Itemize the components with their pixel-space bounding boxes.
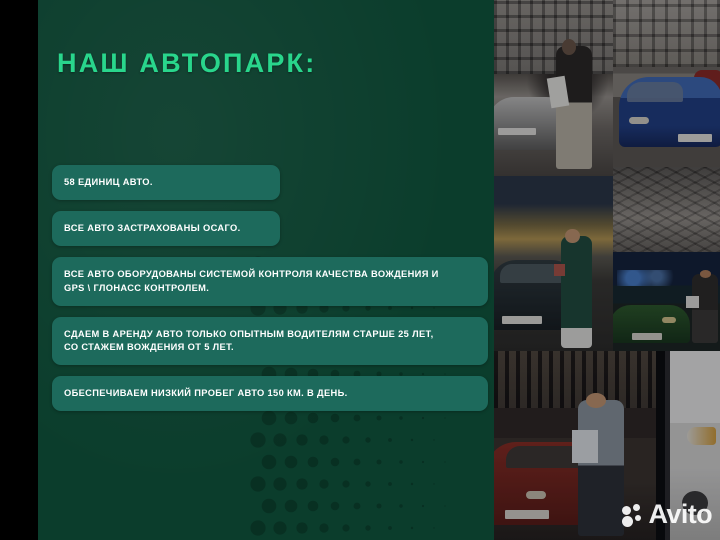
- photo-pavement: [613, 167, 720, 252]
- feature-line: СДАЕМ В АРЕНДУ АВТО ТОЛЬКО ОПЫТНЫМ ВОДИТ…: [64, 328, 476, 341]
- feature-item-gps-control: ВСЕ АВТО ОБОРУДОВАНЫ СИСТЕМОЙ КОНТРОЛЯ К…: [52, 257, 488, 305]
- photo-man-silver-car: [494, 0, 613, 176]
- feature-line: GPS \ ГЛОНАСС КОНТРОЛЕМ.: [64, 282, 476, 295]
- slide-root: НАШ АВТОПАРК: 58 ЕДИНИЦ АВТО. ВСЕ АВТО З…: [0, 0, 720, 540]
- content-panel: НАШ АВТОПАРК: 58 ЕДИНИЦ АВТО. ВСЕ АВТО З…: [38, 0, 494, 540]
- photo-red-car-man: [494, 351, 656, 540]
- photo-white-car: [656, 351, 720, 540]
- feature-list: 58 ЕДИНИЦ АВТО. ВСЕ АВТО ЗАСТРАХОВАНЫ ОС…: [52, 165, 488, 422]
- page-title: НАШ АВТОПАРК:: [57, 48, 316, 79]
- feature-line: ОБЕСПЕЧИВАЕМ НИЗКИЙ ПРОБЕГ АВТО 150 КМ. …: [64, 387, 476, 400]
- feature-item-fleet-size: 58 ЕДИНИЦ АВТО.: [52, 165, 280, 200]
- feature-item-mileage: ОБЕСПЕЧИВАЕМ НИЗКИЙ ПРОБЕГ АВТО 150 КМ. …: [52, 376, 488, 411]
- feature-line: 58 ЕДИНИЦ АВТО.: [64, 176, 268, 189]
- left-gutter: [0, 0, 38, 540]
- feature-line: СО СТАЖЕМ ВОЖДЕНИЯ ОТ 5 ЛЕТ.: [64, 341, 476, 354]
- feature-item-driver-rules: СДАЕМ В АРЕНДУ АВТО ТОЛЬКО ОПЫТНЫМ ВОДИТ…: [52, 317, 488, 365]
- photo-green-car-night: [613, 252, 720, 351]
- photo-collage: Avito: [494, 0, 720, 540]
- photo-blue-car: [613, 0, 720, 167]
- feature-item-osago: ВСЕ АВТО ЗАСТРАХОВАНЫ ОСАГО.: [52, 211, 280, 246]
- feature-line: ВСЕ АВТО ОБОРУДОВАНЫ СИСТЕМОЙ КОНТРОЛЯ К…: [64, 268, 476, 281]
- feature-line: ВСЕ АВТО ЗАСТРАХОВАНЫ ОСАГО.: [64, 222, 268, 235]
- photo-woman-dark-car: [494, 176, 613, 351]
